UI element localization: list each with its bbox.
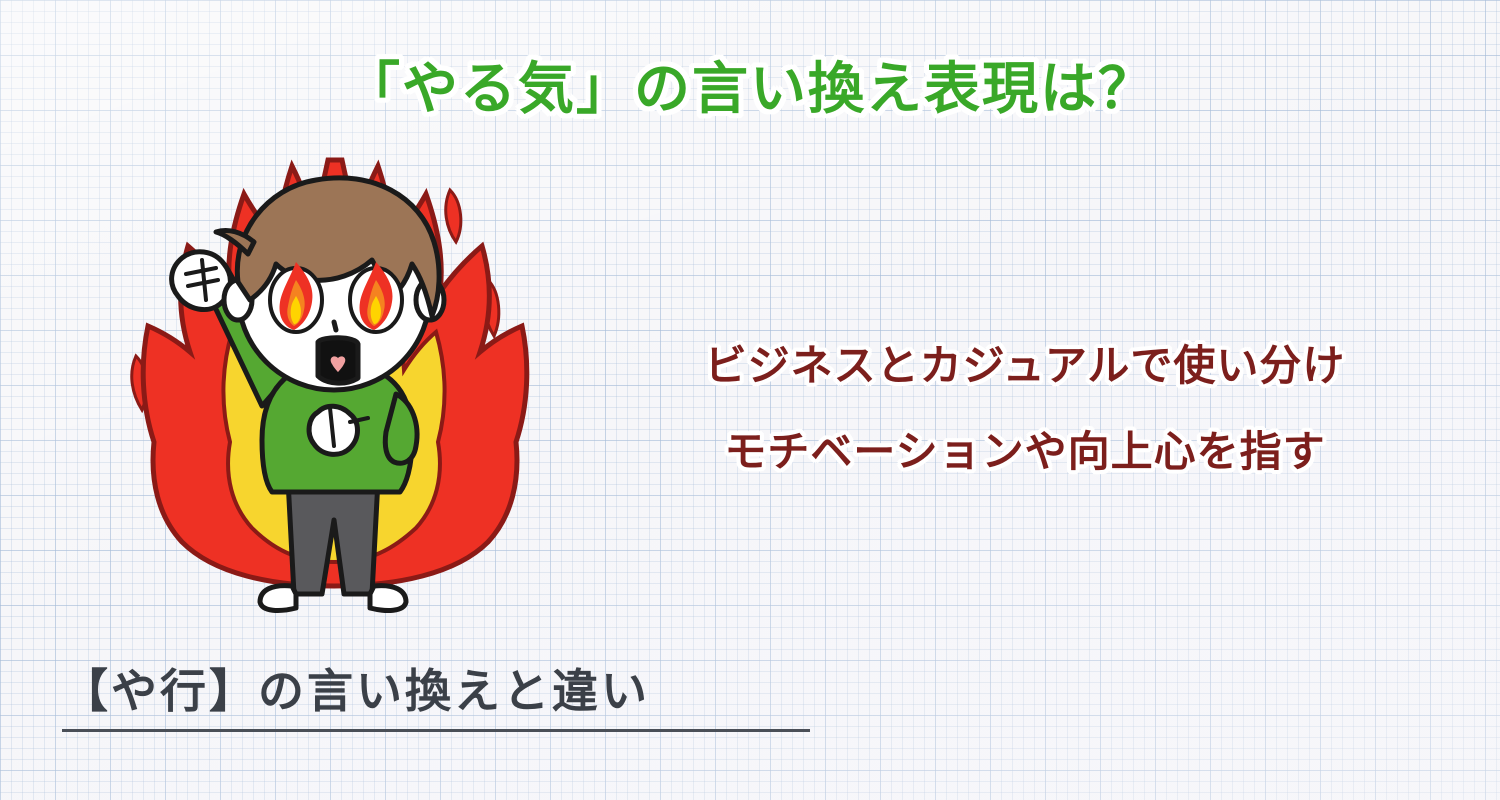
- bottom-caption-underline: [62, 729, 810, 732]
- poster-canvas: 「やる気」の言い換え表現は？: [0, 0, 1500, 800]
- illustration-fired-up-boy: [120, 150, 550, 630]
- shoe-left: [260, 586, 296, 611]
- nose: [334, 322, 336, 330]
- ember-icon: [446, 190, 461, 242]
- bottom-caption: 【や行】の言い換えと違い: [62, 655, 650, 721]
- page-title: 「やる気」の言い換え表現は？: [0, 44, 1500, 125]
- subtitle-line-2: モチベーションや向上心を指す: [560, 431, 1490, 473]
- subtitle-block: ビジネスとカジュアルで使い分け モチベーションや向上心を指す: [560, 345, 1490, 473]
- shoe-right: [370, 586, 406, 611]
- subtitle-line-1: ビジネスとカジュアルで使い分け: [560, 345, 1490, 387]
